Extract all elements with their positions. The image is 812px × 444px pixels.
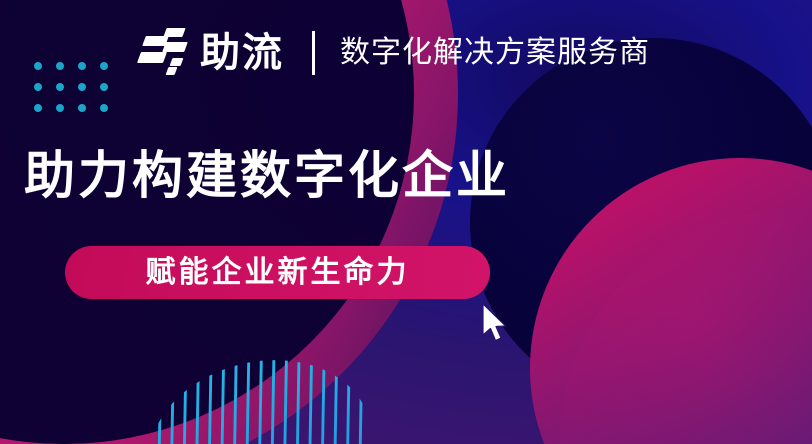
grid-dot — [56, 104, 64, 112]
stripe-line — [306, 337, 313, 444]
grid-dot — [78, 83, 86, 91]
grid-dot — [100, 104, 108, 112]
stripe-line — [269, 337, 276, 444]
stripe-line — [231, 337, 238, 444]
stripe-line — [281, 337, 288, 444]
stripe-line — [294, 337, 301, 444]
slogan-pill-button[interactable]: 赋能企业新生命力 — [65, 246, 490, 299]
headline-text: 助力构建数字化企业 — [24, 148, 510, 203]
navy-circle-decoration — [470, 38, 812, 406]
grid-dot — [100, 62, 108, 70]
grid-dot — [34, 83, 42, 91]
grid-dot — [78, 62, 86, 70]
header-divider — [312, 31, 315, 75]
stripe-line — [344, 337, 351, 444]
lightning-flow-logo-icon — [137, 27, 191, 79]
grid-dot — [56, 62, 64, 70]
logo-wordmark: 助流 — [200, 33, 284, 73]
stripe-line — [357, 337, 364, 444]
stripe-line — [319, 337, 326, 444]
grid-dot — [100, 83, 108, 91]
striped-halfcircle-decoration — [131, 337, 389, 444]
grid-dot — [34, 62, 42, 70]
grid-dot — [78, 104, 86, 112]
stripe-line — [256, 337, 263, 444]
mouse-pointer-cursor-icon — [481, 303, 511, 347]
stripe-line — [168, 339, 175, 444]
magenta-circle-decoration — [530, 158, 812, 444]
promo-banner: 助流 数字化解决方案服务商 助力构建数字化企业 赋能企业新生命力 — [0, 0, 812, 444]
grid-dot — [34, 104, 42, 112]
stripe-line — [243, 337, 250, 444]
brand-tagline: 数字化解决方案服务商 — [340, 38, 650, 68]
stripe-line — [155, 342, 162, 444]
brand-header: 助流 数字化解决方案服务商 — [137, 24, 650, 82]
grid-dot — [56, 83, 64, 91]
stripe-line — [332, 337, 339, 444]
stripe-line — [218, 337, 225, 444]
slogan-pill-label: 赋能企业新生命力 — [146, 258, 410, 288]
stripe-line — [206, 337, 213, 444]
stripe-line — [180, 337, 187, 444]
soft-glow-decoration — [560, 210, 812, 444]
stripe-line — [193, 337, 200, 444]
dot-grid-decoration — [34, 62, 108, 112]
